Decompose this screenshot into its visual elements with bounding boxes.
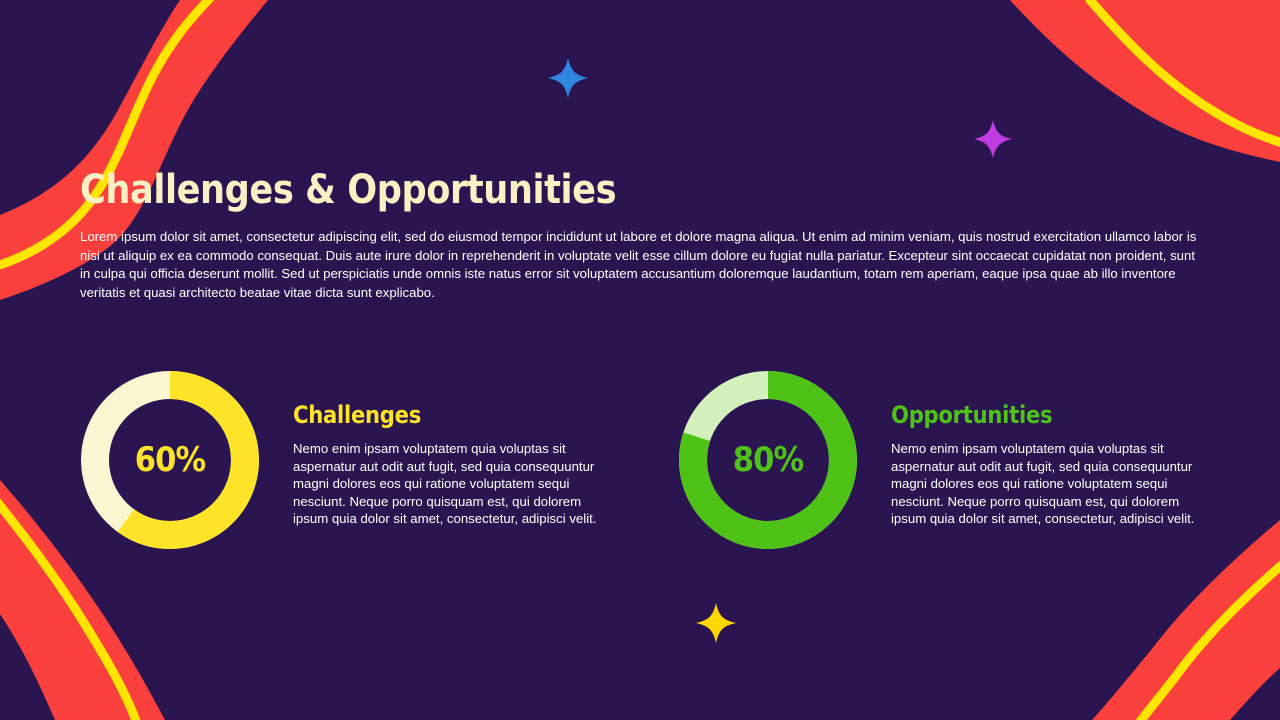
opportunities-text-block: Opportunities Nemo enim ipsam voluptatem… bbox=[891, 370, 1206, 528]
ribbon-top-right bbox=[1010, 0, 1280, 162]
opportunities-donut-chart: 80% bbox=[678, 370, 858, 550]
page-title: Challenges & Opportunities bbox=[80, 166, 616, 214]
challenges-percent-label: 60% bbox=[89, 370, 251, 550]
slide-canvas: Challenges & Opportunities Lorem ipsum d… bbox=[0, 0, 1280, 720]
challenges-text-block: Challenges Nemo enim ipsam voluptatem qu… bbox=[293, 370, 608, 528]
opportunities-section: 80% Opportunities Nemo enim ipsam volupt… bbox=[678, 370, 1206, 550]
challenges-section: 60% Challenges Nemo enim ipsam voluptate… bbox=[80, 370, 608, 550]
sparkle-yellow-icon bbox=[696, 603, 736, 643]
challenges-donut-chart: 60% bbox=[80, 370, 260, 550]
challenges-heading: Challenges bbox=[293, 402, 570, 428]
ribbon-top-right-outer bbox=[1196, 0, 1280, 62]
sparkles-decoration bbox=[0, 0, 1280, 720]
intro-paragraph: Lorem ipsum dolor sit amet, consectetur … bbox=[80, 228, 1204, 302]
challenges-body: Nemo enim ipsam voluptatem quia voluptas… bbox=[293, 440, 608, 528]
opportunities-percent-label: 80% bbox=[687, 370, 849, 550]
opportunities-heading: Opportunities bbox=[891, 402, 1168, 428]
opportunities-body: Nemo enim ipsam voluptatem quia voluptas… bbox=[891, 440, 1206, 528]
sparkle-magenta-icon bbox=[974, 120, 1012, 158]
sparkle-blue-icon bbox=[548, 58, 588, 98]
ribbon-bottom-right bbox=[1092, 520, 1280, 720]
corner-ribbons-decoration bbox=[0, 0, 1280, 720]
